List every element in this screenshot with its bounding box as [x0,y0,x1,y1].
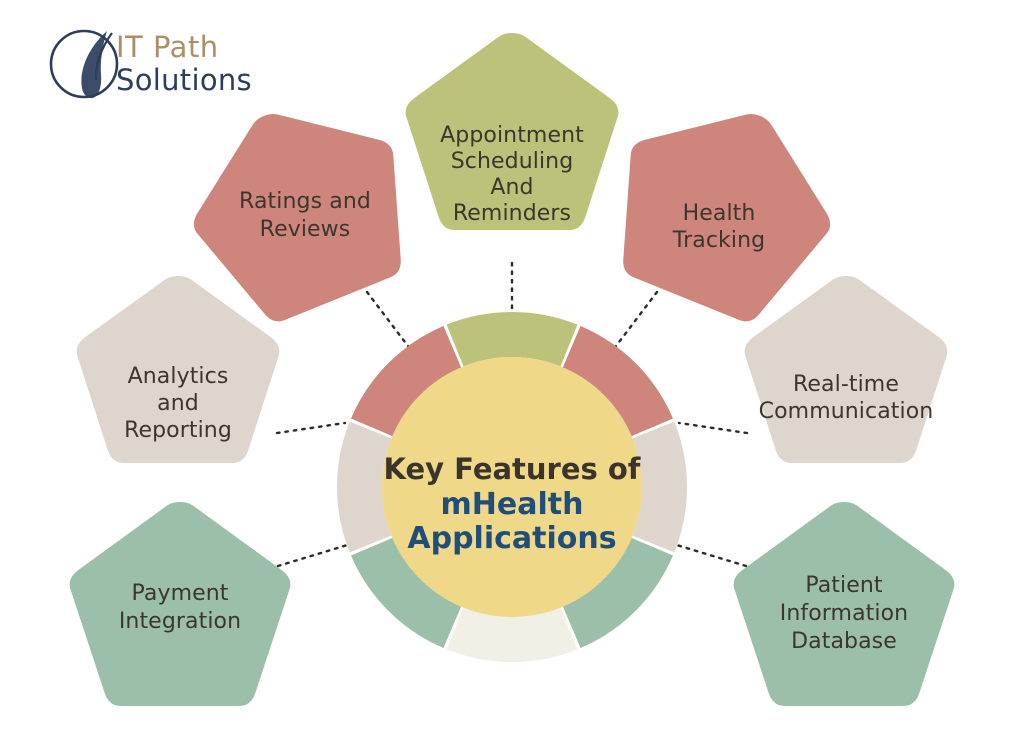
infographic-canvas: IT Path Solutions Appointment Schedulin [0,0,1024,755]
connector-health-tracking [613,292,657,350]
connector-analytics-and-reporting [277,423,345,433]
donut-chart: Key Features of mHealth Applications [337,312,687,662]
feature-node-real-time-communication[interactable]: Real-time Communication [745,276,948,463]
feature-label-patient-3: Database [791,629,897,654]
feature-label-ratings-2: Reviews [260,217,351,242]
feature-node-appointment-scheduling[interactable]: Appointment Scheduling And Reminders [406,33,619,230]
feature-label-analytics-1: Analytics [128,364,229,389]
feature-label-patient-2: Information [780,601,908,626]
feature-label-appointment-1: Appointment [440,123,584,148]
logo-text-line1: IT Path [116,30,219,64]
feature-label-realtime-1: Real-time [793,372,899,397]
logo[interactable]: IT Path Solutions [51,30,252,98]
connector-patient-information-database [670,543,746,566]
connector-payment-integration [278,543,354,566]
center-title-line2: mHealth [441,487,584,522]
feature-node-analytics-and-reporting[interactable]: Analytics and Reporting [77,276,280,463]
feature-label-payment-2: Integration [119,609,241,634]
infographic-svg: IT Path Solutions Appointment Schedulin [0,0,1024,755]
connector-real-time-communication [679,423,747,433]
feature-label-appointment-4: Reminders [453,201,571,226]
connector-ratings-and-reviews [367,292,411,350]
feature-label-analytics-3: Reporting [124,418,232,443]
feature-label-payment-1: Payment [131,581,228,606]
logo-text-line2: Solutions [116,63,252,97]
center-title-line3: Applications [407,521,616,556]
it-path-solutions-logo-mark [51,31,117,98]
pentagon-shape-real-time-communication [745,276,948,463]
feature-label-analytics-2: and [157,391,199,416]
feature-label-health-1: Health [683,201,756,226]
feature-label-health-2: Tracking [672,228,765,253]
feature-label-ratings-1: Ratings and [239,189,371,214]
feature-label-realtime-2: Communication [759,399,934,424]
feature-node-payment-integration[interactable]: Payment Integration [70,502,291,706]
feature-node-patient-information-database[interactable]: Patient Information Database [734,502,955,706]
center-title-line1: Key Features of [384,452,641,486]
feature-label-patient-1: Patient [805,573,883,598]
feature-label-appointment-2: Scheduling [451,149,574,174]
feature-label-appointment-3: And [490,175,533,200]
